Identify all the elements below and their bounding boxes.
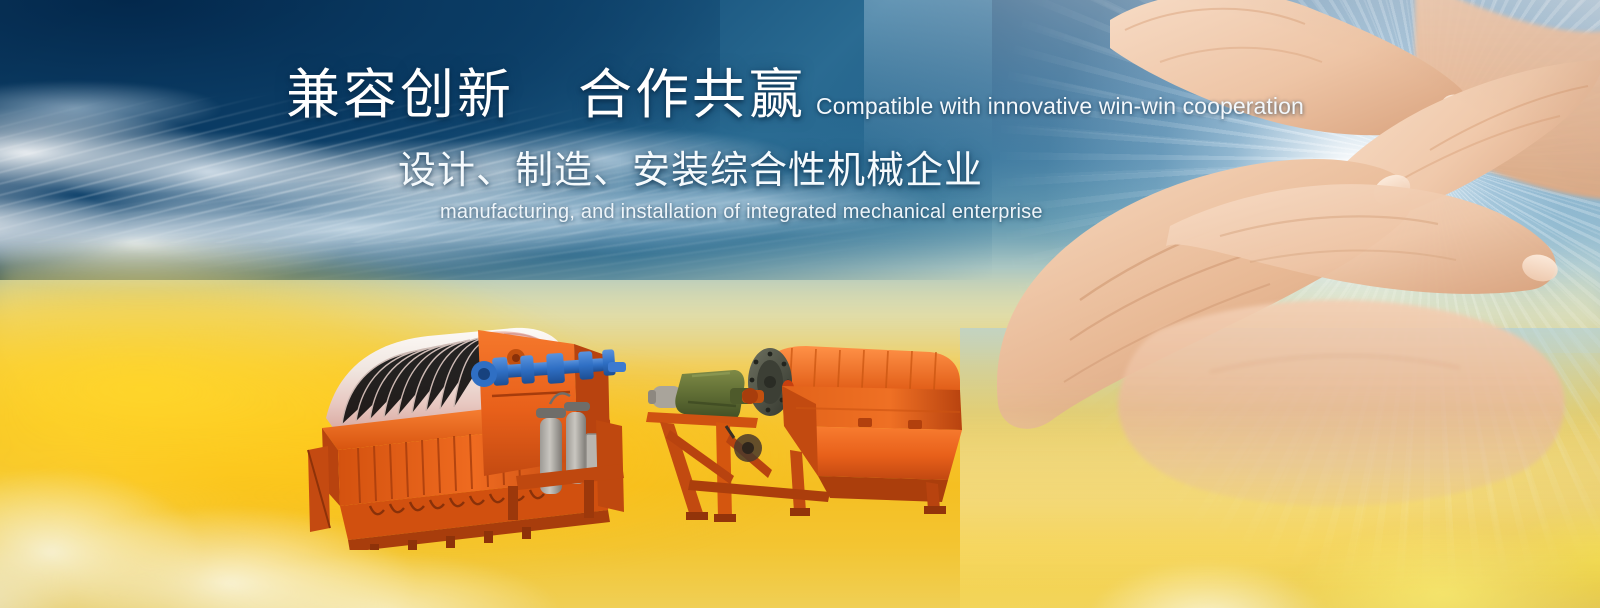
ceramic-vacuum-disc-filter-image (278, 300, 638, 550)
drum-magnetic-separator-image (630, 330, 980, 525)
promotional-banner: 兼容创新 合作共赢 Compatible with innovative win… (0, 0, 1600, 608)
stacked-hands-image (960, 0, 1600, 608)
